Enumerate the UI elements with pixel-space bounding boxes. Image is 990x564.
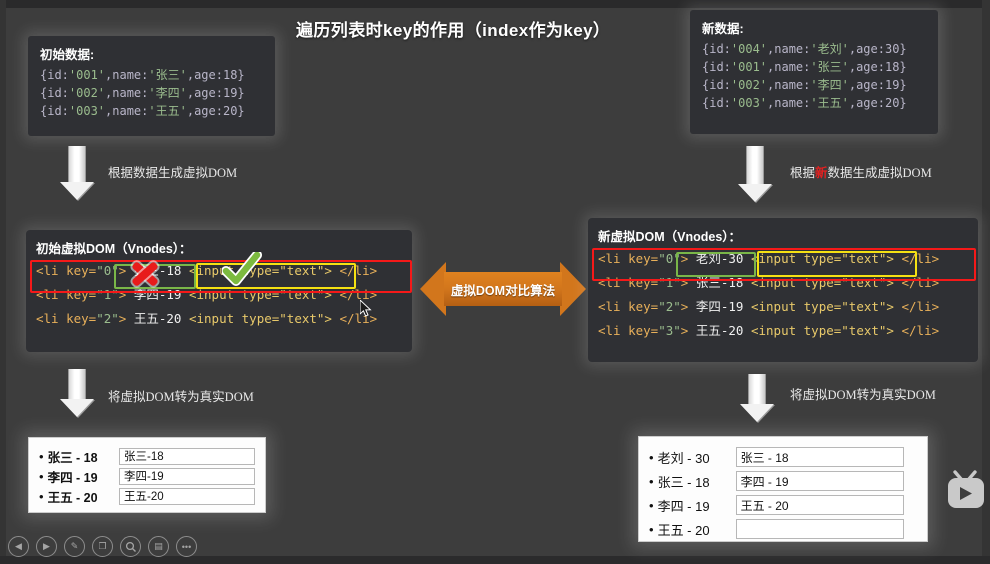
letterbox-top (0, 0, 990, 8)
arrow-label-to-real-dom-right: 将虚拟DOM转为真实DOM (790, 384, 936, 403)
new-data-card: 新数据: {id:'004',name:'老刘',age:30} {id:'00… (690, 10, 938, 134)
initial-data-line: {id:'002',name:'李四',age:19} (40, 84, 263, 102)
page-title: 遍历列表时key的作用（index作为key） (296, 16, 610, 41)
initial-data-line: {id:'001',name:'张三',age:18} (40, 66, 263, 84)
new-data-line: {id:'003',name:'王五',age:20} (702, 94, 926, 112)
arrow-label-generate-vdom-left: 根据数据生成虚拟DOM (108, 162, 237, 181)
arrow-down-to-real-dom-right (740, 374, 774, 422)
pen-tool-button[interactable]: ✎ (64, 536, 85, 557)
presentation-stage: 遍历列表时key的作用（index作为key） 初始数据: {id:'001',… (0, 0, 990, 564)
arrow-label-to-real-dom-left: 将虚拟DOM转为真实DOM (108, 386, 254, 405)
list-item-label: 李四 - 19 (658, 496, 730, 515)
new-data-line: {id:'002',name:'李四',age:19} (702, 76, 926, 94)
bullet-icon: • (39, 470, 44, 483)
list-item: • 王五 - 20 王五-20 (39, 486, 255, 506)
list-item: • 张三 - 18 张三-18 (39, 446, 255, 466)
initial-data-card: 初始数据: {id:'001',name:'张三',age:18} {id:'0… (28, 36, 275, 136)
new-vnodes-heading: 新虚拟DOM（Vnodes）： (598, 226, 968, 245)
list-item-label: 李四 - 19 (48, 467, 113, 486)
mouse-cursor (360, 300, 372, 318)
vnode-line: <li key="0"> 张三-18 <input type="text"> <… (36, 259, 402, 283)
text-input[interactable]: 王五-20 (119, 488, 255, 505)
search-icon (125, 541, 137, 553)
initial-vnodes-card: 初始虚拟DOM（Vnodes）： <li key="0"> 张三-18 <inp… (26, 230, 412, 352)
letterbox-left (0, 0, 6, 564)
text-input[interactable]: 李四 - 19 (736, 471, 904, 491)
arrow-label-generate-vdom-right: 根据新数据生成虚拟DOM (790, 162, 932, 181)
next-slide-button[interactable]: ▶ (36, 536, 57, 557)
new-data-line: {id:'001',name:'张三',age:18} (702, 58, 926, 76)
vnode-line: <li key="1"> 李四-19 <input type="text"> <… (36, 283, 402, 307)
player-toolbar[interactable]: ◀ ▶ ✎ ❐ ▤ ••• (8, 536, 197, 557)
arrow-down-to-real-dom-left (60, 369, 94, 417)
bullet-icon: • (649, 475, 654, 488)
real-dom-panel-left: • 张三 - 18 张三-18 • 李四 - 19 李四-19 • 王五 - 2… (28, 437, 266, 513)
letterbox-bottom (0, 556, 990, 564)
text-input[interactable]: 李四-19 (119, 468, 255, 485)
more-options-button[interactable]: ••• (176, 536, 197, 557)
list-item-label: 张三 - 18 (48, 447, 113, 466)
arrow-down-generate-vdom-left (60, 146, 94, 200)
list-item: • 老刘 - 30 张三 - 18 (649, 445, 917, 469)
list-item-label: 老刘 - 30 (658, 448, 730, 467)
bullet-icon: • (39, 490, 44, 503)
text-input[interactable]: 王五 - 20 (736, 495, 904, 515)
list-item-label: 王五 - 20 (658, 520, 730, 539)
zoom-button[interactable] (120, 536, 141, 557)
bullet-icon: • (649, 451, 654, 464)
list-item: • 张三 - 18 李四 - 19 (649, 469, 917, 493)
previous-slide-button[interactable]: ◀ (8, 536, 29, 557)
list-item: • 李四 - 19 李四-19 (39, 466, 255, 486)
diff-arrow-label: 虚拟DOM对比算法 (420, 262, 586, 316)
bullet-icon: • (39, 450, 44, 463)
real-dom-panel-right: • 老刘 - 30 张三 - 18 • 张三 - 18 李四 - 19 • 李四… (638, 436, 928, 542)
new-data-heading: 新数据: (702, 18, 926, 37)
initial-vnodes-heading: 初始虚拟DOM（Vnodes）： (36, 238, 402, 257)
vnode-line: <li key="0"> 老刘-30 <input type="text"> <… (598, 247, 968, 271)
text-input[interactable]: 张三-18 (119, 448, 255, 465)
window-layout-button[interactable]: ❐ (92, 536, 113, 557)
bilibili-tv-logo-icon (944, 466, 986, 514)
list-item-label: 张三 - 18 (658, 472, 730, 491)
vnode-line: <li key="2"> 王五-20 <input type="text"> <… (36, 307, 402, 331)
text-input[interactable]: 张三 - 18 (736, 447, 904, 467)
vnode-line: <li key="1"> 张三-18 <input type="text"> <… (598, 271, 968, 295)
vnode-line: <li key="2"> 李四-19 <input type="text"> <… (598, 295, 968, 319)
vdom-diff-algorithm-arrow: 虚拟DOM对比算法 (420, 262, 586, 316)
bullet-icon: • (649, 523, 654, 536)
vnode-line: <li key="3"> 王五-20 <input type="text"> <… (598, 319, 968, 343)
notes-button[interactable]: ▤ (148, 536, 169, 557)
initial-data-heading: 初始数据: (40, 44, 263, 63)
text-input[interactable] (736, 519, 904, 539)
list-item-label: 王五 - 20 (48, 487, 113, 506)
initial-data-line: {id:'003',name:'王五',age:20} (40, 102, 263, 120)
arrow-down-generate-vdom-right (738, 146, 772, 202)
bullet-icon: • (649, 499, 654, 512)
list-item: • 王五 - 20 (649, 517, 917, 541)
list-item: • 李四 - 19 王五 - 20 (649, 493, 917, 517)
new-vnodes-card: 新虚拟DOM（Vnodes）： <li key="0"> 老刘-30 <inpu… (588, 218, 978, 362)
new-data-line: {id:'004',name:'老刘',age:30} (702, 40, 926, 58)
